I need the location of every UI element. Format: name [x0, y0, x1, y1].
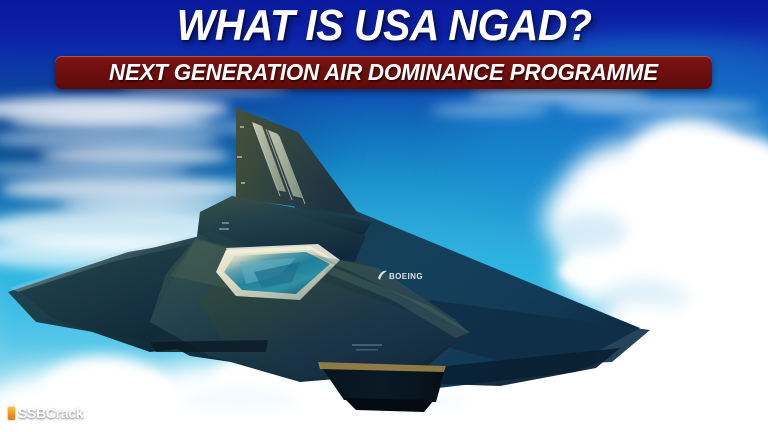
nozzle-shadow	[344, 398, 434, 412]
svg-text:BOEING: BOEING	[389, 272, 423, 281]
subtitle-banner: NEXT GENERATION AIR DOMINANCE PROGRAMME	[55, 56, 712, 89]
thumbnail-canvas: BOEING WHAT IS USA NGAD? NEXT GENERATION…	[0, 0, 768, 432]
watermark-brand: SSBCrack	[18, 405, 83, 421]
watermark: SSBCrack	[8, 405, 83, 421]
subtitle-text: NEXT GENERATION AIR DOMINANCE PROGRAMME	[65, 56, 702, 89]
bookmark-icon	[8, 407, 15, 420]
